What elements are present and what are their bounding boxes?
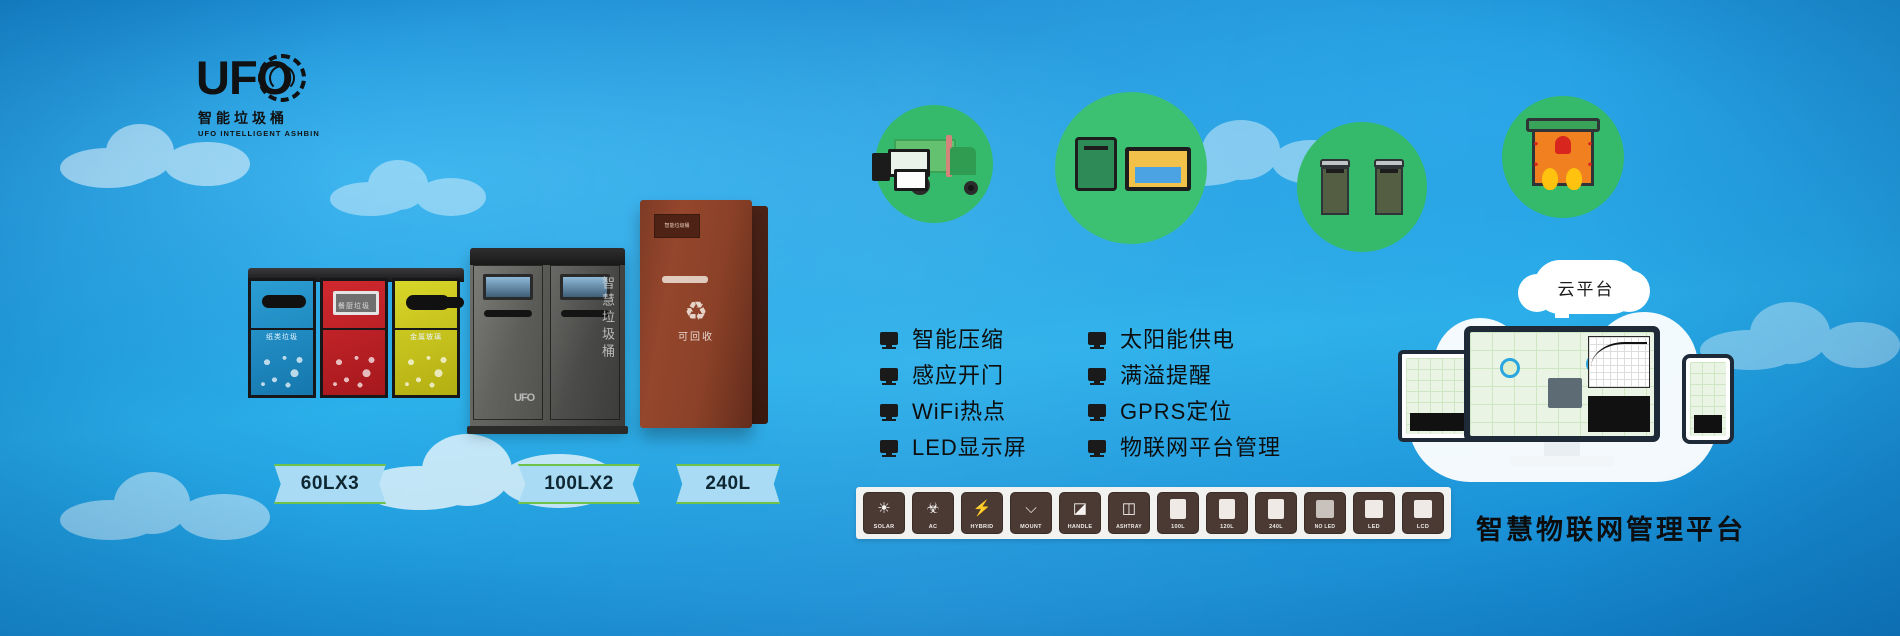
monitor-device — [1464, 326, 1660, 442]
monitor-screen — [1470, 332, 1654, 436]
cloud-tag-label: 云平台 — [1558, 275, 1615, 300]
bar-chart-widget — [1588, 396, 1650, 432]
phone-device — [1682, 354, 1734, 444]
vignette-overlay — [0, 0, 1900, 636]
cloud-platform-tag: 云平台 — [1534, 260, 1638, 314]
tablet-screen — [1406, 358, 1468, 434]
map-building-icon — [1548, 378, 1582, 408]
phone-screen — [1690, 362, 1726, 436]
monitor-base — [1510, 456, 1614, 466]
map-pin-icon — [1500, 358, 1520, 378]
line-chart-widget — [1588, 336, 1650, 388]
banner-stage: UFO 智能垃圾桶 UFO INTELLIGENT ASHBIN 纸类垃圾 餐厨… — [0, 0, 1900, 636]
